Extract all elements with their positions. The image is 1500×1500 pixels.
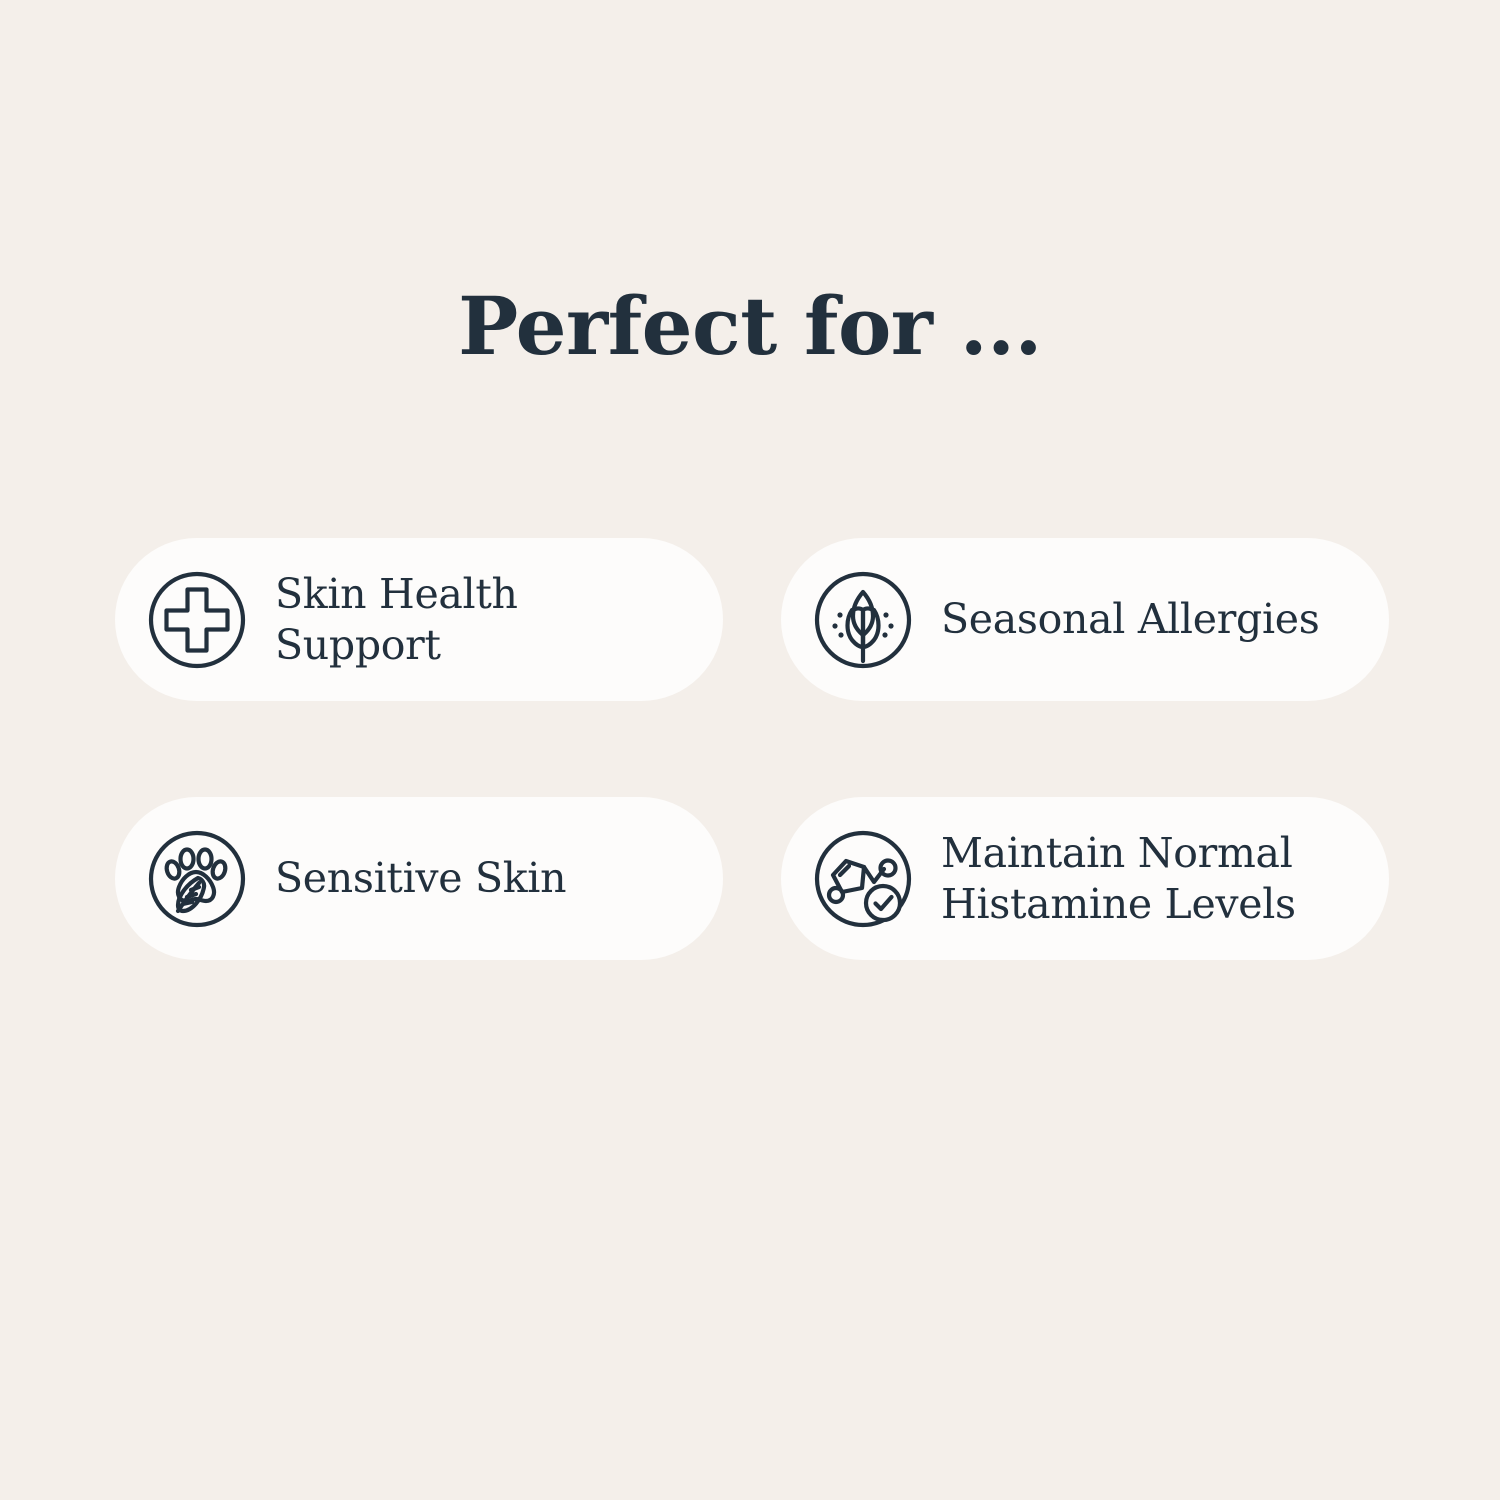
plus-in-circle-icon <box>145 568 249 672</box>
benefit-card-maintain-normal-histamine-levels[interactable]: Maintain Normal Histamine Levels <box>781 797 1389 960</box>
paw-with-leaf-in-circle-icon <box>145 827 249 931</box>
benefit-card-sensitive-skin[interactable]: Sensitive Skin <box>115 797 723 960</box>
benefit-card-grid: Skin Health Support <box>115 538 1389 960</box>
page-title: Perfect for ... <box>0 286 1500 366</box>
benefit-card-label: Maintain Normal Histamine Levels <box>941 828 1296 928</box>
flower-pollen-in-circle-icon <box>811 568 915 672</box>
benefit-card-label: Seasonal Allergies <box>941 594 1319 644</box>
benefit-card-label: Sensitive Skin <box>275 853 566 903</box>
benefit-card-skin-health-support[interactable]: Skin Health Support <box>115 538 723 701</box>
perfect-for-section: Perfect for ... Skin Health Support <box>0 0 1500 1500</box>
benefit-card-label: Skin Health Support <box>275 569 518 669</box>
benefit-card-seasonal-allergies[interactable]: Seasonal Allergies <box>781 538 1389 701</box>
molecule-with-check-in-circle-icon <box>811 827 915 931</box>
